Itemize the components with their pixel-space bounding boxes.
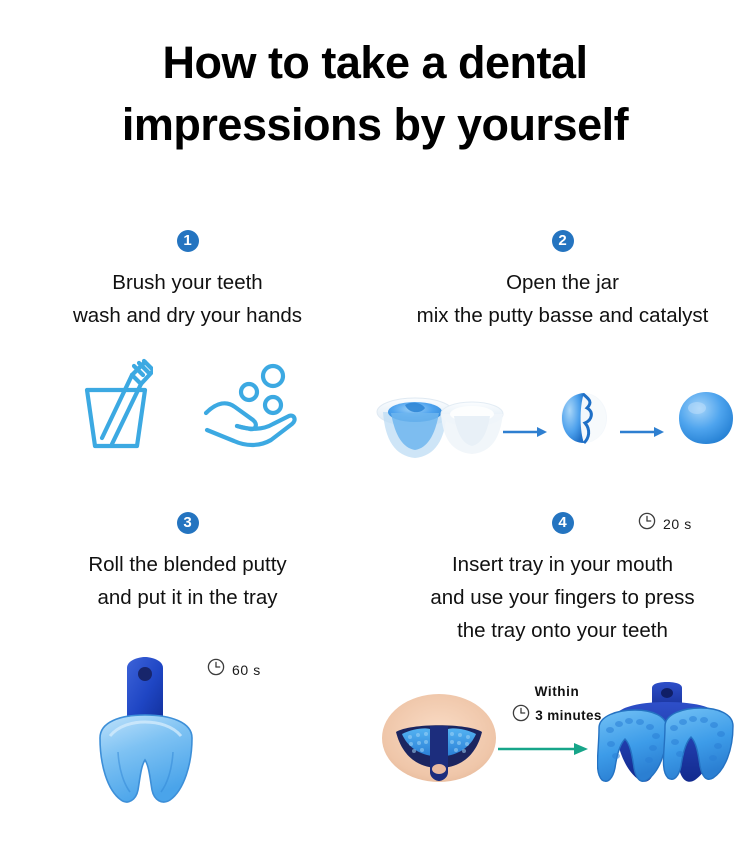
step-3-timer-label: 60 s bbox=[232, 662, 261, 678]
page-title: How to take a dental impressions by your… bbox=[0, 32, 750, 156]
step-1-caption-line-2: wash and dry your hands bbox=[0, 299, 375, 332]
step-4: 4 Insert tray in your mouth and use your… bbox=[375, 512, 750, 648]
step-3-caption-line-1: Roll the blended putty bbox=[0, 548, 375, 581]
step-3-illustration-row: 60 s bbox=[0, 648, 375, 828]
step-3-badge: 3 bbox=[177, 512, 199, 534]
step-2-badge: 2 bbox=[552, 230, 574, 252]
step-1-badge: 1 bbox=[177, 230, 199, 252]
step-1-caption-line-1: Brush your teeth bbox=[0, 266, 375, 299]
step-2-caption-line-2: mix the putty basse and catalyst bbox=[375, 299, 750, 332]
page-title-line-2: impressions by yourself bbox=[0, 94, 750, 156]
toothbrush-in-cup-icon bbox=[79, 358, 153, 455]
clock-icon bbox=[207, 658, 225, 681]
step-4-timer-bottom-label: 3 minutes bbox=[535, 708, 602, 723]
step-2-caption-line-1: Open the jar bbox=[375, 266, 750, 299]
step-4-caption: Insert tray in your mouth and use your f… bbox=[375, 548, 750, 648]
step-4-timer-top-label: Within bbox=[535, 684, 580, 699]
loaded-impression-tray-photo bbox=[88, 656, 206, 811]
step-4-badge: 4 bbox=[552, 512, 574, 534]
step-1-caption: Brush your teeth wash and dry your hands bbox=[0, 266, 375, 332]
page-title-line-1: How to take a dental bbox=[162, 37, 587, 88]
infographic-page: How to take a dental impressions by your… bbox=[0, 0, 750, 854]
clock-icon bbox=[512, 704, 530, 727]
step-3-caption: Roll the blended putty and put it in the… bbox=[0, 548, 375, 614]
step-4-caption-line-1: Insert tray in your mouth bbox=[375, 548, 750, 581]
step-1-icon-row bbox=[0, 358, 375, 455]
arrow-right-icon bbox=[620, 425, 664, 443]
step-3: 3 Roll the blended putty and put it in t… bbox=[0, 512, 375, 614]
mixed-putty-ball-photo bbox=[677, 390, 735, 451]
step-3-timer: 60 s bbox=[207, 658, 261, 681]
step-4-caption-line-2: and use your fingers to press bbox=[375, 581, 750, 614]
half-mixed-putty-photo bbox=[557, 388, 611, 451]
arrow-right-green-icon bbox=[498, 742, 588, 761]
step-2-illustration-row: 20 s bbox=[375, 378, 750, 468]
step-4-illustration-row: Within 3 minutes bbox=[375, 680, 750, 810]
washing-hands-icon bbox=[201, 358, 297, 455]
step-2-caption: Open the jar mix the putty basse and cat… bbox=[375, 266, 750, 332]
step-2: 2 Open the jar mix the putty basse and c… bbox=[375, 230, 750, 332]
putty-jars-photo bbox=[375, 392, 505, 469]
finished-impressions-photo bbox=[597, 682, 737, 799]
step-1: 1 Brush your teeth wash and dry your han… bbox=[0, 230, 375, 455]
mouth-with-tray-photo bbox=[380, 690, 498, 791]
step-4-caption-line-3: the tray onto your teeth bbox=[375, 614, 750, 647]
arrow-right-icon bbox=[503, 425, 547, 443]
step-3-caption-line-2: and put it in the tray bbox=[0, 581, 375, 614]
